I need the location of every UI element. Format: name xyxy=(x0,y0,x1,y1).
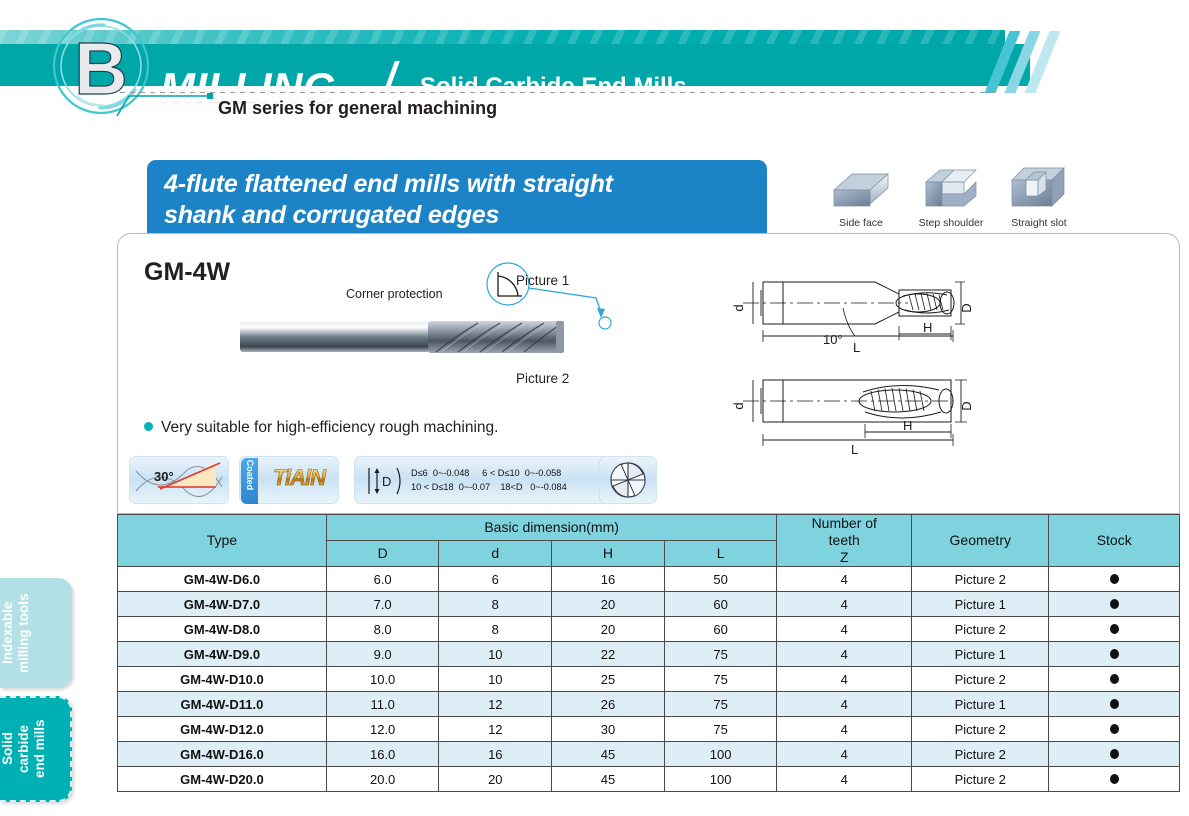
cell-l: 50 xyxy=(664,567,777,592)
cell-l: 75 xyxy=(664,692,777,717)
col-l: L xyxy=(664,541,777,567)
cell-stock xyxy=(1049,767,1180,792)
step-shoulder-icon xyxy=(920,162,982,210)
cell-teeth: 4 xyxy=(777,592,912,617)
cell-d-upper: 10.0 xyxy=(326,667,439,692)
coating-type: TiAlN xyxy=(262,465,336,491)
product-title-banner: 4-flute flattened end mills with straigh… xyxy=(147,160,767,236)
dim-h-2: H xyxy=(903,418,912,433)
cell-stock xyxy=(1049,617,1180,642)
stock-available-dot-icon xyxy=(1110,649,1119,659)
cell-l: 100 xyxy=(664,767,777,792)
coated-strip: Coated xyxy=(241,458,258,504)
cell-teeth: 4 xyxy=(777,692,912,717)
operation-label: Step shoulder xyxy=(908,217,994,229)
cell-d-lower: 6 xyxy=(439,567,552,592)
cell-teeth: 4 xyxy=(777,642,912,667)
table-row: GM-4W-D11.011.01226754Picture 1 xyxy=(118,692,1180,717)
cell-geometry: Picture 1 xyxy=(912,692,1049,717)
badge-diameter-tolerance: D D≤6 0~-0.048 6 < D≤10 0~-0.058 10 < D≤… xyxy=(354,456,634,504)
col-group-basic-dimension: Basic dimension(mm) xyxy=(326,515,777,541)
banner-line-1: 4-flute flattened end mills with straigh… xyxy=(164,169,767,200)
col-d-upper: D xyxy=(326,541,439,567)
cell-type: GM-4W-D8.0 xyxy=(118,617,327,642)
stock-available-dot-icon xyxy=(1110,674,1119,684)
col-number-of-teeth: Number of teeth Z xyxy=(777,515,912,567)
cell-stock xyxy=(1049,567,1180,592)
table-row: GM-4W-D9.09.01022754Picture 1 xyxy=(118,642,1180,667)
col-geometry: Geometry xyxy=(912,515,1049,567)
dim-l-2: L xyxy=(851,442,858,457)
specification-table: Type Basic dimension(mm) Number of teeth… xyxy=(117,514,1180,792)
tolerance-line-2: 10 < D≤18 0~-0.07 18<D 0~-0.084 xyxy=(411,482,567,492)
badge-flute-count xyxy=(599,456,657,504)
col-stock: Stock xyxy=(1049,515,1180,567)
cell-geometry: Picture 2 xyxy=(912,617,1049,642)
cell-type: GM-4W-D9.0 xyxy=(118,642,327,667)
helix-angle-icon: 30° xyxy=(130,457,228,503)
banner-line-2: shank and corrugated edges xyxy=(164,200,767,231)
cell-stock xyxy=(1049,717,1180,742)
cell-geometry: Picture 2 xyxy=(912,667,1049,692)
corner-protection-label: Corner protection xyxy=(346,287,443,301)
stock-available-dot-icon xyxy=(1110,724,1119,734)
cell-d-upper: 20.0 xyxy=(326,767,439,792)
table-row: GM-4W-D16.016.016451004Picture 2 xyxy=(118,742,1180,767)
badge-coating: Coated TiAlN xyxy=(239,456,339,504)
dim-d-lower-2: d xyxy=(731,402,746,409)
sidebar-tab-label: Solid carbide end mills xyxy=(0,698,48,800)
cell-teeth: 4 xyxy=(777,742,912,767)
cell-d-lower: 12 xyxy=(439,717,552,742)
cell-d-lower: 10 xyxy=(439,642,552,667)
picture-1-label: Picture 1 xyxy=(516,273,569,288)
cell-d-lower: 12 xyxy=(439,692,552,717)
teeth-line-2: teeth xyxy=(829,532,860,548)
cell-d-upper: 12.0 xyxy=(326,717,439,742)
cell-d-upper: 11.0 xyxy=(326,692,439,717)
cell-type: GM-4W-D20.0 xyxy=(118,767,327,792)
cell-h: 26 xyxy=(552,692,665,717)
sidebar-tab-label: Indexable milling tools xyxy=(0,578,32,688)
straight-slot-icon xyxy=(1008,162,1070,210)
cell-type: GM-4W-D6.0 xyxy=(118,567,327,592)
series-note: GM series for general machining xyxy=(218,98,497,119)
cell-geometry: Picture 2 xyxy=(912,767,1049,792)
dim-h-1: H xyxy=(923,320,932,335)
cell-d-upper: 6.0 xyxy=(326,567,439,592)
table-header: Type Basic dimension(mm) Number of teeth… xyxy=(118,515,1180,567)
teeth-line-1: Number of xyxy=(812,515,877,531)
operation-straight-slot: Straight slot xyxy=(996,162,1082,229)
stock-available-dot-icon xyxy=(1110,699,1119,709)
col-h: H xyxy=(552,541,665,567)
cell-teeth: 4 xyxy=(777,567,912,592)
operation-side-face: Side face xyxy=(818,162,904,229)
catalog-page: B MILLING Solid Carbide End Mills GM ser… xyxy=(0,0,1189,816)
stock-available-dot-icon xyxy=(1110,599,1119,609)
cell-h: 16 xyxy=(552,567,665,592)
dim-d-upper-1: D xyxy=(959,303,974,312)
picture-2-label: Picture 2 xyxy=(516,371,569,386)
dim-d-upper-2: D xyxy=(959,401,974,410)
stock-available-dot-icon xyxy=(1110,624,1119,634)
cell-h: 45 xyxy=(552,742,665,767)
cell-d-lower: 10 xyxy=(439,667,552,692)
operation-icons: Side face Step shoulder Straight slot xyxy=(818,162,1086,234)
cell-stock xyxy=(1049,667,1180,692)
tolerance-line-1: D≤6 0~-0.048 6 < D≤10 0~-0.058 xyxy=(411,468,561,478)
cell-geometry: Picture 2 xyxy=(912,717,1049,742)
sidebar-tab-indexable-milling-tools[interactable]: Indexable milling tools xyxy=(0,578,72,688)
page-subtitle: Solid Carbide End Mills xyxy=(420,73,687,101)
cell-d-lower: 8 xyxy=(439,617,552,642)
cell-teeth: 4 xyxy=(777,717,912,742)
sidebar-tab-solid-carbide-end-mills[interactable]: Solid carbide end mills xyxy=(0,696,72,802)
table-row: GM-4W-D20.020.020451004Picture 2 xyxy=(118,767,1180,792)
cell-h: 25 xyxy=(552,667,665,692)
cell-d-upper: 9.0 xyxy=(326,642,439,667)
technical-drawings: d d D D 10° H H L L xyxy=(703,264,1163,479)
coated-label: Coated xyxy=(245,455,255,495)
taper-angle: 10° xyxy=(823,332,843,347)
header-dashed-rule xyxy=(120,92,1000,93)
cell-geometry: Picture 1 xyxy=(912,642,1049,667)
cell-teeth: 4 xyxy=(777,617,912,642)
cell-l: 60 xyxy=(664,592,777,617)
cell-type: GM-4W-D7.0 xyxy=(118,592,327,617)
drawing-picture-2 xyxy=(743,380,967,446)
table-row: GM-4W-D7.07.0820604Picture 1 xyxy=(118,592,1180,617)
cell-type: GM-4W-D12.0 xyxy=(118,717,327,742)
cell-d-upper: 16.0 xyxy=(326,742,439,767)
cell-h: 20 xyxy=(552,617,665,642)
col-d-lower: d xyxy=(439,541,552,567)
cell-h: 30 xyxy=(552,717,665,742)
table-row: GM-4W-D6.06.0616504Picture 2 xyxy=(118,567,1180,592)
col-type: Type xyxy=(118,515,327,567)
side-face-icon xyxy=(830,162,892,210)
cell-type: GM-4W-D10.0 xyxy=(118,667,327,692)
cell-l: 75 xyxy=(664,667,777,692)
cell-l: 60 xyxy=(664,617,777,642)
cell-d-lower: 20 xyxy=(439,767,552,792)
tolerance-text: D≤6 0~-0.048 6 < D≤10 0~-0.058 10 < D≤18… xyxy=(411,467,567,494)
cell-geometry: Picture 1 xyxy=(912,592,1049,617)
cell-geometry: Picture 2 xyxy=(912,567,1049,592)
cell-stock xyxy=(1049,592,1180,617)
feature-bullet-text: Very suitable for high-efficiency rough … xyxy=(161,419,498,436)
cell-type: GM-4W-D16.0 xyxy=(118,742,327,767)
badge-helix-angle: 30° xyxy=(129,456,229,504)
cell-l: 75 xyxy=(664,717,777,742)
cell-teeth: 4 xyxy=(777,667,912,692)
cell-teeth: 4 xyxy=(777,767,912,792)
bullet-dot-icon xyxy=(144,422,153,431)
stock-available-dot-icon xyxy=(1110,749,1119,759)
cell-type: GM-4W-D11.0 xyxy=(118,692,327,717)
operation-label: Side face xyxy=(818,217,904,229)
cell-stock xyxy=(1049,642,1180,667)
product-photo xyxy=(238,312,568,360)
operation-label: Straight slot xyxy=(996,217,1082,229)
dim-l-1: L xyxy=(853,340,860,355)
cell-h: 20 xyxy=(552,592,665,617)
cell-d-lower: 8 xyxy=(439,592,552,617)
operation-step-shoulder: Step shoulder xyxy=(908,162,994,229)
stock-available-dot-icon xyxy=(1110,774,1119,784)
cell-h: 22 xyxy=(552,642,665,667)
diameter-symbol-icon: D xyxy=(363,466,405,496)
cell-l: 75 xyxy=(664,642,777,667)
table-row: GM-4W-D10.010.01025754Picture 2 xyxy=(118,667,1180,692)
cell-d-upper: 7.0 xyxy=(326,592,439,617)
cell-stock xyxy=(1049,742,1180,767)
teeth-line-3: Z xyxy=(840,549,849,565)
product-detail-card: GM-4W Corner protection xyxy=(117,233,1180,514)
helix-angle-value: 30° xyxy=(154,469,174,484)
cell-d-upper: 8.0 xyxy=(326,617,439,642)
series-connector-line xyxy=(115,92,215,118)
stock-available-dot-icon xyxy=(1110,574,1119,584)
table-header-row-1: Type Basic dimension(mm) Number of teeth… xyxy=(118,515,1180,541)
part-number: GM-4W xyxy=(144,258,230,287)
cell-stock xyxy=(1049,692,1180,717)
cell-geometry: Picture 2 xyxy=(912,742,1049,767)
dim-d-lower-1: d xyxy=(731,304,746,311)
table-row: GM-4W-D12.012.01230754Picture 2 xyxy=(118,717,1180,742)
cell-h: 45 xyxy=(552,767,665,792)
four-flute-cross-section-icon xyxy=(600,457,656,503)
cell-d-lower: 16 xyxy=(439,742,552,767)
cell-l: 100 xyxy=(664,742,777,767)
table-body: GM-4W-D6.06.0616504Picture 2GM-4W-D7.07.… xyxy=(118,567,1180,792)
feature-bullet: Very suitable for high-efficiency rough … xyxy=(144,419,498,437)
table-row: GM-4W-D8.08.0820604Picture 2 xyxy=(118,617,1180,642)
header-title-wrap: MILLING Solid Carbide End Mills xyxy=(0,30,1045,86)
tolerance-symbol-letter: D xyxy=(382,474,391,489)
